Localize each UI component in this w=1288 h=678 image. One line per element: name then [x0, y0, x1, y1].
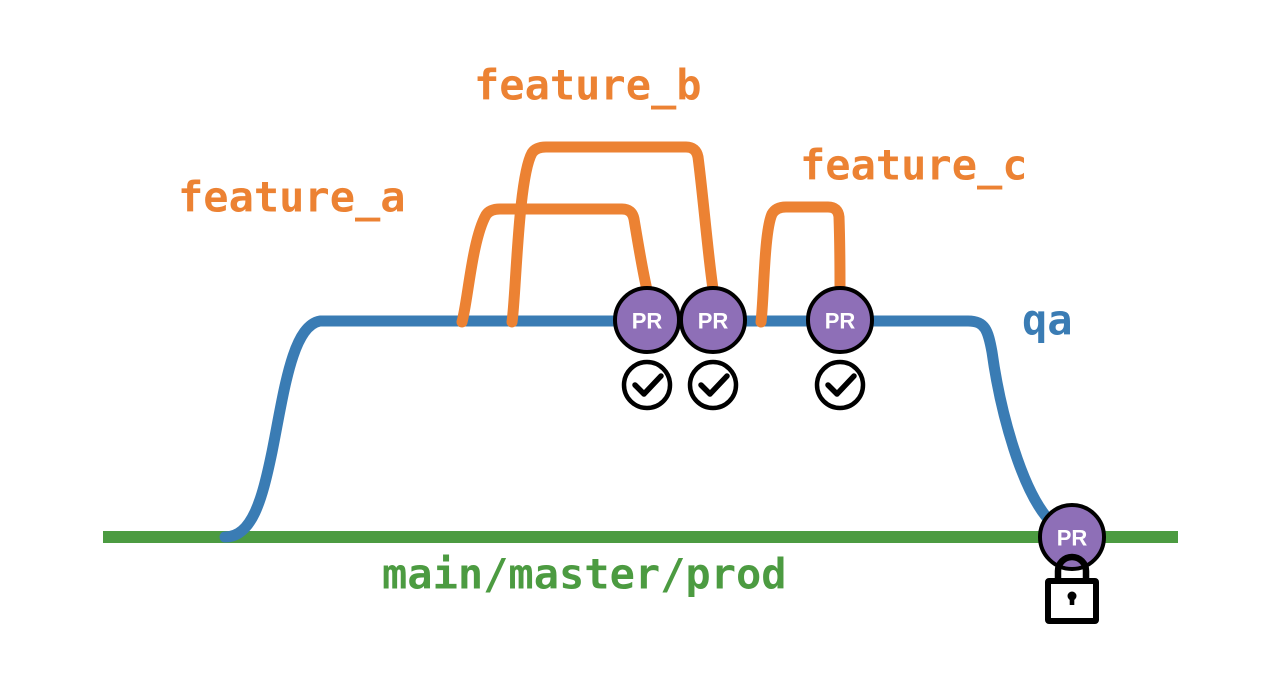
pr-node-label: PR [632, 309, 663, 334]
qa-branch-line [225, 321, 1053, 537]
pr-node-feature-b[interactable]: PR [681, 288, 745, 352]
check-circle-icon[interactable] [624, 362, 670, 408]
pr-node-feature-a[interactable]: PR [615, 288, 679, 352]
branch-label-feature-b: feature_b [474, 61, 702, 110]
pr-node-label: PR [698, 309, 729, 334]
git-flow-canvas: PR PR PR PR [0, 0, 1288, 678]
branch-label-feature-a: feature_a [178, 173, 406, 222]
check-circle-icon[interactable] [690, 362, 736, 408]
pr-node-label: PR [825, 309, 856, 334]
branch-label-feature-c: feature_c [800, 141, 1028, 190]
pr-node-label: PR [1057, 526, 1088, 551]
pr-node-feature-c[interactable]: PR [808, 288, 872, 352]
branch-label-main: main/master/prod [382, 550, 787, 599]
git-branch-diagram: PR PR PR PR [0, 0, 1288, 678]
check-circle-icon[interactable] [817, 362, 863, 408]
branch-label-qa: qa [1022, 296, 1073, 345]
feature-b-branch-line [512, 147, 713, 322]
